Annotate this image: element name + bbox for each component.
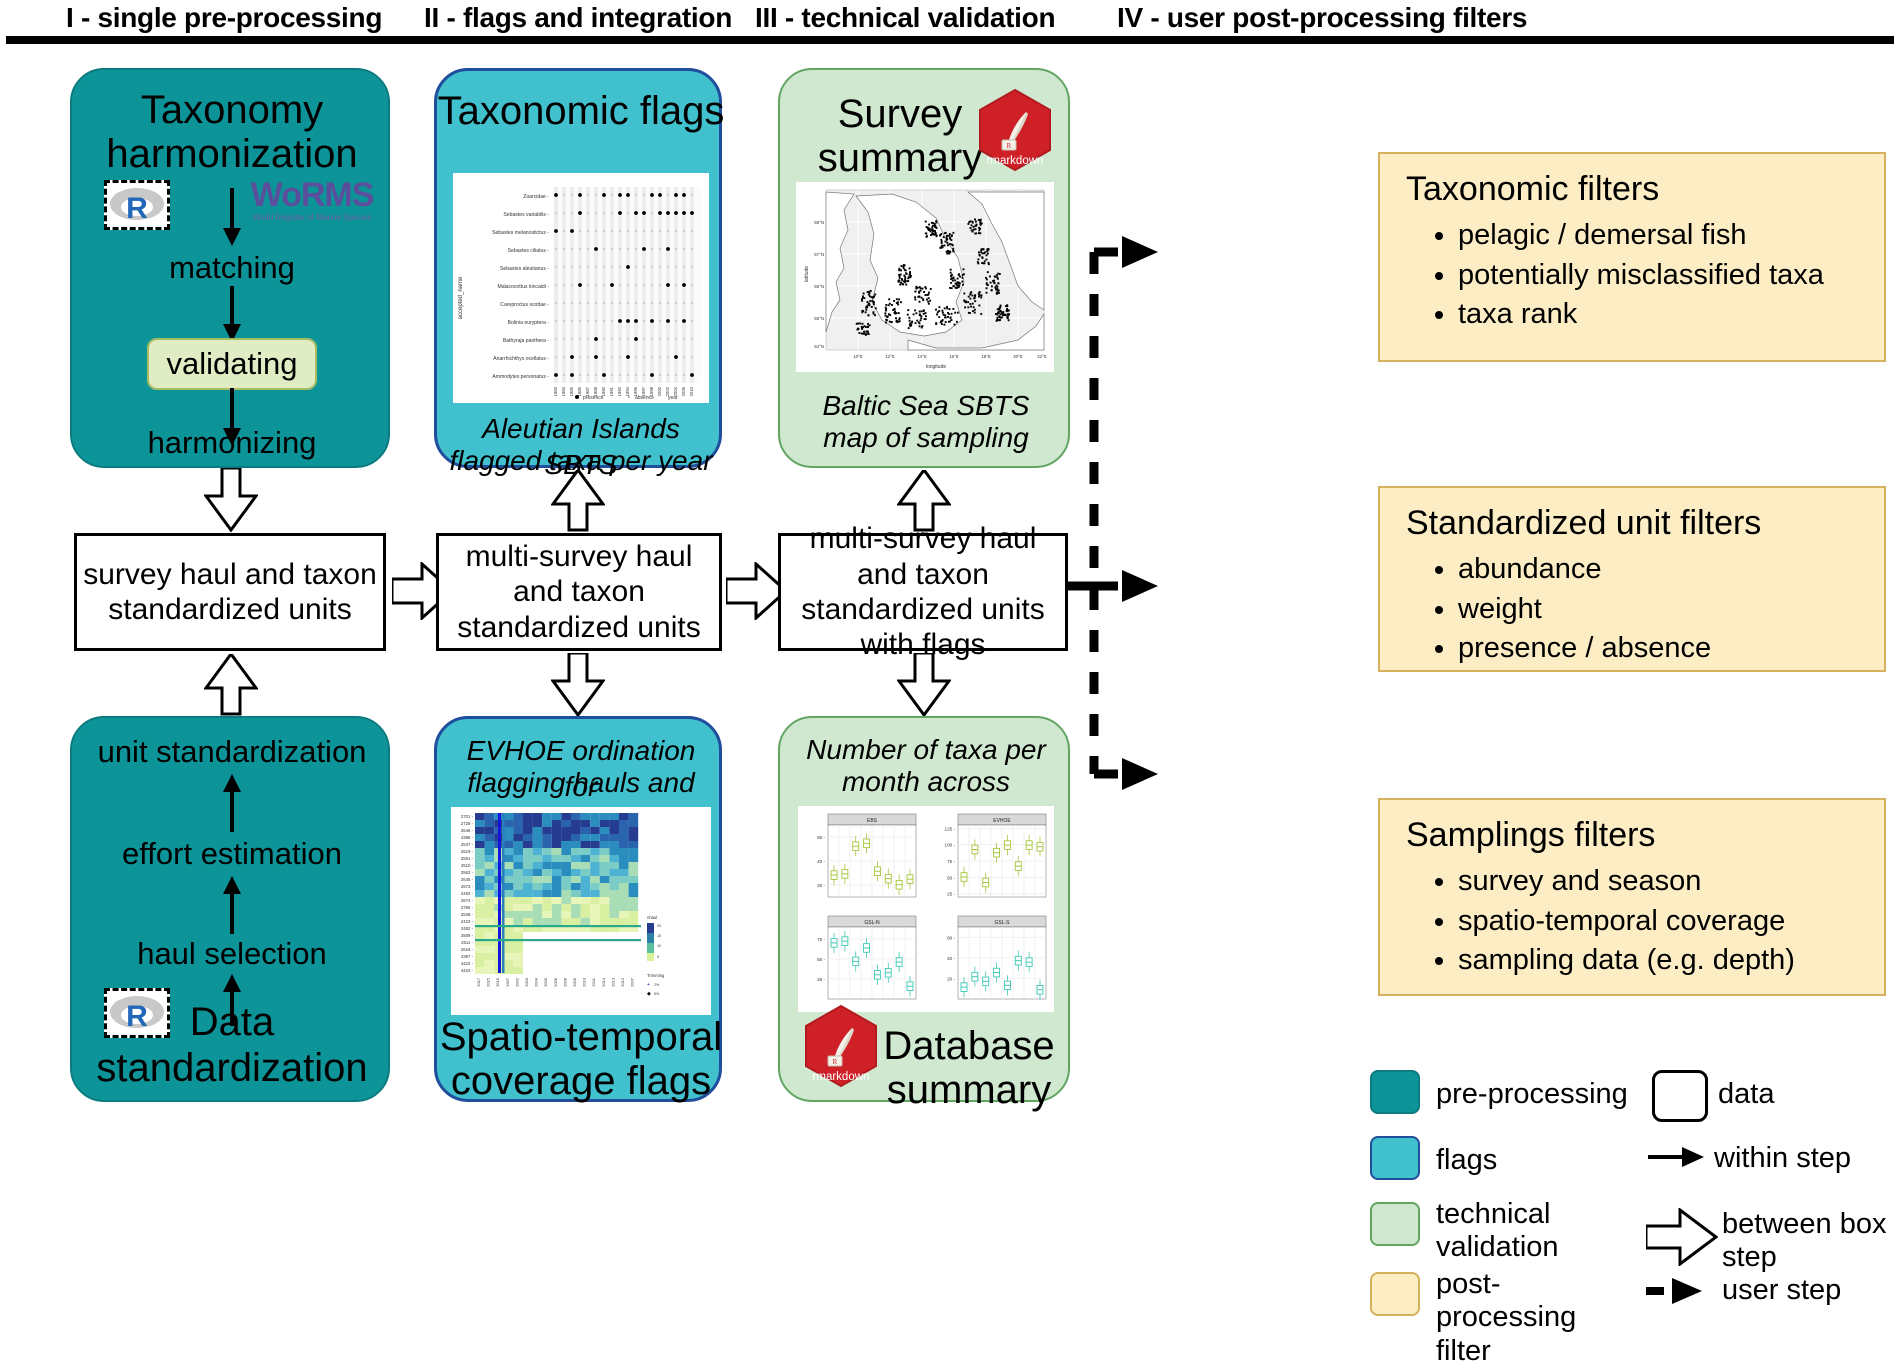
svg-text:EBS: EBS [867, 818, 878, 824]
svg-text:longitude: longitude [926, 364, 947, 370]
svg-text:2645 -: 2645 - [461, 877, 474, 882]
svg-text:75 -: 75 - [947, 859, 955, 864]
svg-text:20 -: 20 - [947, 976, 955, 981]
samplings-filters-title: Samplings filters [1406, 816, 1884, 855]
svg-text:2011: 2011 [591, 977, 596, 986]
svg-text:2000: 2000 [657, 386, 662, 396]
baltic-caption-line2: map of sampling [790, 420, 1062, 456]
spatio-temporal-title-line1: Spatio-temporal [437, 1015, 725, 1059]
rmarkdown-hex-logo-icon-2: R rmarkdown [802, 1004, 880, 1088]
step-harmonizing-label: harmonizing [72, 425, 392, 461]
svg-text:2619 -: 2619 - [461, 849, 474, 854]
svg-text:2006: 2006 [553, 977, 558, 987]
svg-text:2483 -: 2483 - [461, 891, 474, 896]
header-divider-rule [6, 36, 1894, 44]
svg-text:4396 -: 4396 - [461, 835, 474, 840]
svg-text:2012: 2012 [620, 977, 625, 987]
svg-text:accepted_name: accepted_name [458, 276, 464, 319]
svg-text:2%: 2% [654, 983, 660, 987]
svg-text:2003: 2003 [524, 977, 529, 987]
legend-swatch-pre-processing [1370, 1070, 1420, 1114]
legend-symbol-between-box-arrow [1646, 1208, 1718, 1266]
standardized-unit-filters-list: abundance weight presence / absence [1380, 551, 1884, 668]
svg-text:1997: 1997 [505, 977, 510, 987]
legend-label-within-step: within step [1714, 1142, 1851, 1175]
legend-label-data: data [1718, 1078, 1774, 1111]
svg-text:18°E: 18°E [981, 354, 991, 359]
svg-text:25 -: 25 - [817, 977, 825, 982]
svg-text:10: 10 [657, 944, 661, 948]
svg-text:50 -: 50 - [947, 875, 955, 880]
taxa-per-month-caption-line1: Number of taxa per [790, 732, 1062, 768]
legend-swatch-flags [1370, 1136, 1420, 1180]
legend-label-flags: flags [1436, 1144, 1497, 1177]
svg-text:GSL-S: GSL-S [994, 920, 1010, 926]
filter-item: pelagic / demersal fish [1458, 217, 1884, 255]
svg-text:10°E: 10°E [853, 354, 863, 359]
spatio-temporal-coverage-flags-box: EVHOE ordination for flagging hauls and … [434, 716, 722, 1102]
svg-text:2510 -: 2510 - [461, 863, 474, 868]
svg-text:58°N: 58°N [814, 220, 824, 225]
filter-item: spatio-temporal coverage [1458, 903, 1884, 941]
svg-text:2008: 2008 [562, 977, 567, 987]
svg-text:◆: ◆ [647, 991, 651, 997]
svg-text:55°N: 55°N [814, 316, 824, 321]
svg-text:Zoarcidae -: Zoarcidae - [523, 194, 549, 200]
svg-text:Sebastes aleutianus -: Sebastes aleutianus - [500, 266, 549, 272]
svg-text:125 -: 125 - [945, 826, 956, 831]
svg-text:1986: 1986 [577, 386, 582, 396]
taxonomic-filters-title: Taxonomic filters [1406, 170, 1884, 209]
legend-label-between-box-step: between box step [1722, 1208, 1892, 1275]
legend-symbol-user-step-arrow [1646, 1274, 1708, 1308]
legend-label-technical-validation: technical validation [1436, 1198, 1626, 1265]
between-box-arrow-c3-down [897, 653, 951, 717]
svg-text:2674 -: 2674 - [461, 898, 474, 903]
baltic-sea-sampling-map-thumbnail: 58°N 57°N 56°N 55°N 54°N 10°E 12°E 14°E … [796, 182, 1054, 372]
svg-text:2537 -: 2537 - [461, 842, 474, 847]
taxonomy-harmonization-title-line2: harmonization [72, 132, 392, 176]
legend-swatch-technical-validation [1370, 1202, 1420, 1246]
svg-text:EVHOE: EVHOE [993, 818, 1011, 824]
filter-item: weight [1458, 591, 1884, 629]
svg-text:1983: 1983 [553, 386, 558, 396]
between-box-arrow-c1-up [204, 654, 258, 716]
r-logo-icon: R [104, 180, 170, 230]
svg-text:Bolinia euryptera -: Bolinia euryptera - [508, 320, 550, 326]
legend-label-post-processing-filter: post-processing filter [1436, 1268, 1636, 1368]
svg-text:rmarkdown: rmarkdown [813, 1071, 870, 1083]
svg-text:latitude: latitude [804, 266, 810, 282]
filter-item: abundance [1458, 551, 1884, 589]
legend-symbol-within-step-arrow [1648, 1140, 1706, 1174]
data-box-col2-label: multi-survey haul and taxon standardized… [439, 539, 719, 645]
legend: pre-processing flags technical validatio… [1370, 1058, 1900, 1338]
svg-text:2618 -: 2618 - [461, 947, 474, 952]
step-effort-estimation-label: effort estimation [72, 836, 392, 872]
standardized-unit-filters-box: Standardized unit filters abundance weig… [1378, 486, 1886, 672]
within-step-arrow-2 [217, 286, 247, 344]
svg-text:Sebastes variabilis -: Sebastes variabilis - [503, 212, 549, 218]
taxonomy-harmonization-title-line1: Taxonomy [72, 88, 392, 132]
between-box-arrow-c2-down [551, 653, 605, 717]
svg-text:R: R [1007, 142, 1012, 150]
samplings-filters-list: survey and season spatio-temporal covera… [1380, 863, 1884, 980]
svg-text:2701 -: 2701 - [461, 814, 474, 819]
data-standardization-title-line1: Data [72, 1000, 392, 1044]
svg-text:2591 -: 2591 - [461, 856, 474, 861]
svg-text:2646 -: 2646 - [461, 828, 474, 833]
svg-text:60 -: 60 - [817, 835, 825, 840]
svg-text:Ammodytes personatus -: Ammodytes personatus - [492, 374, 549, 380]
taxonomic-flags-box: Taxonomic flags accepted_name Zoarcidae … [434, 68, 722, 468]
svg-text:2509 -: 2509 - [461, 933, 474, 938]
filter-item: presence / absence [1458, 630, 1884, 668]
svg-text:year: year [668, 395, 678, 401]
header-col-2: II - flags and integration [424, 2, 732, 34]
survey-summary-box: Survey summary R rmarkdown [778, 68, 1070, 468]
legend-label-user-step: user step [1722, 1274, 1841, 1307]
data-box-col2: multi-survey haul and taxon standardized… [436, 533, 722, 651]
data-box-col3-label: multi-survey haul and taxon standardized… [781, 521, 1065, 663]
between-box-arrow-c1-down [204, 468, 258, 532]
header-col-1: I - single pre-processing [66, 2, 382, 34]
svg-text:Careproctus scottae -: Careproctus scottae - [500, 302, 549, 308]
svg-text:2482 -: 2482 - [461, 926, 474, 931]
data-box-col1: survey haul and taxon standardized units [74, 533, 386, 651]
svg-text:2014: 2014 [601, 977, 606, 987]
within-step-arrow-4 [217, 774, 247, 832]
taxonomy-harmonization-box: Taxonomy harmonization R WoRMS World Reg… [70, 68, 390, 468]
between-box-arrow-c2-up [551, 470, 605, 532]
step-validating-wrapper: validating [72, 338, 392, 390]
within-step-arrow-1 [217, 188, 247, 248]
header-col-3: III - technical validation [755, 2, 1055, 34]
svg-text:2002: 2002 [514, 977, 519, 987]
rmarkdown-hex-logo-icon: R rmarkdown [976, 88, 1054, 172]
svg-text:Trimming: Trimming [647, 973, 665, 978]
svg-text:2010: 2010 [582, 977, 587, 987]
data-standardization-title-line2: standardization [72, 1046, 392, 1090]
spatio-temporal-title-line2: coverage flags [437, 1059, 725, 1103]
svg-text:2007: 2007 [630, 977, 635, 987]
data-standardization-box: unit standardization effort estimation h… [70, 716, 390, 1102]
svg-text:R: R [833, 1058, 838, 1066]
filter-item: survey and season [1458, 863, 1884, 901]
svg-text:20°E: 20°E [1013, 354, 1023, 359]
svg-text:2004: 2004 [534, 977, 539, 987]
svg-text:2538 -: 2538 - [461, 912, 474, 917]
worms-logo-wordmark: WoRMS [237, 178, 387, 212]
svg-text:2755 -: 2755 - [461, 905, 474, 910]
svg-text:presence: presence [583, 395, 604, 401]
svg-text:2015: 2015 [486, 977, 491, 987]
svg-text:2016: 2016 [495, 977, 500, 987]
svg-text:20 -: 20 - [817, 883, 825, 888]
baltic-caption-line1: Baltic Sea SBTS [790, 388, 1062, 424]
svg-text:nhaul: nhaul [647, 915, 657, 920]
svg-text:2423 -: 2423 - [461, 919, 474, 924]
svg-text:100 -: 100 - [945, 843, 956, 848]
svg-text:2563 -: 2563 - [461, 870, 474, 875]
svg-text:5%: 5% [654, 992, 660, 996]
worms-logo-tagline: World Register of Marine Species [237, 213, 387, 222]
evhoe-ordination-heatmap-thumbnail: 2701 -2728 -2646 -4396 -2537 -2619 -2591… [451, 807, 711, 1015]
within-step-arrow-5 [217, 876, 247, 934]
column-header-row: I - single pre-processing II - flags and… [0, 0, 1900, 46]
svg-text:54°N: 54°N [814, 344, 824, 349]
svg-text:2005: 2005 [543, 977, 548, 987]
data-box-col1-label: survey haul and taxon standardized units [77, 557, 383, 628]
svg-text:25 -: 25 - [947, 892, 955, 897]
svg-text:16°E: 16°E [949, 354, 959, 359]
taxonomic-filters-box: Taxonomic filters pelagic / demersal fis… [1378, 152, 1886, 362]
svg-text:5: 5 [657, 955, 659, 959]
svg-text:60 -: 60 - [947, 935, 955, 940]
step-validating-label: validating [147, 338, 318, 390]
svg-text:R: R [126, 192, 148, 225]
svg-text:1994: 1994 [625, 386, 630, 396]
svg-text:4397 -: 4397 - [461, 954, 474, 959]
svg-text:GSL-N: GSL-N [864, 920, 880, 926]
svg-text:12°E: 12°E [885, 354, 895, 359]
svg-text:rmarkdown: rmarkdown [987, 155, 1044, 167]
svg-text:2017: 2017 [476, 977, 481, 987]
legend-swatch-post-processing-filter [1370, 1272, 1420, 1316]
svg-text:2010: 2010 [689, 386, 694, 396]
legend-label-pre-processing: pre-processing [1436, 1078, 1628, 1111]
step-haul-selection-label: haul selection [72, 936, 392, 972]
svg-text:+: + [647, 982, 650, 988]
standardized-unit-filters-title: Standardized unit filters [1406, 504, 1884, 543]
taxonomic-flags-title: Taxonomic flags [437, 89, 725, 133]
taxa-per-month-boxplots-thumbnail: EBS20 -40 -60 -EVHOE25 -50 -75 -100 -125… [798, 806, 1054, 1012]
svg-text:14°E: 14°E [917, 354, 927, 359]
legend-symbol-data-box [1652, 1070, 1708, 1122]
svg-text:15: 15 [657, 934, 661, 938]
svg-text:22°E: 22°E [1037, 354, 1047, 359]
svg-text:Sebastes ciliatus -: Sebastes ciliatus - [508, 248, 550, 254]
taxonomic-flags-dotplot-thumbnail: accepted_name Zoarcidae - Sebastes varia… [453, 173, 709, 403]
filter-item: potentially misclassified taxa [1458, 257, 1884, 295]
svg-text:1984: 1984 [561, 386, 566, 396]
svg-text:Malacocottus kincaidi -: Malacocottus kincaidi - [497, 284, 549, 290]
database-summary-title: Database summary [874, 1024, 1064, 1112]
svg-text:4423 -: 4423 - [461, 968, 474, 973]
data-box-col3: multi-survey haul and taxon standardized… [778, 533, 1068, 651]
svg-text:2006: 2006 [681, 386, 686, 396]
svg-text:1992: 1992 [617, 386, 622, 396]
svg-text:56°N: 56°N [814, 284, 824, 289]
taxonomic-filters-list: pelagic / demersal fish potentially misc… [1380, 217, 1884, 334]
svg-text:Sebastes melanostictus -: Sebastes melanostictus - [492, 230, 549, 236]
svg-text:57°N: 57°N [814, 252, 824, 257]
svg-text:20: 20 [657, 924, 661, 928]
svg-text:2511 -: 2511 - [461, 940, 473, 945]
step-unit-standardization-label: unit standardization [72, 734, 392, 770]
samplings-filters-box: Samplings filters survey and season spat… [1378, 798, 1886, 996]
svg-text:2013: 2013 [610, 977, 615, 987]
svg-text:1985: 1985 [569, 386, 574, 396]
svg-text:2009: 2009 [572, 977, 577, 987]
svg-text:4422 -: 4422 - [461, 961, 474, 966]
filter-item: sampling data (e.g. depth) [1458, 942, 1884, 980]
svg-text:50 -: 50 - [817, 957, 825, 962]
svg-text:40 -: 40 - [947, 956, 955, 961]
svg-text:absence: absence [635, 395, 654, 401]
svg-text:Bathyraja panthera -: Bathyraja panthera - [503, 338, 549, 344]
svg-text:Anarrhichthys ocellatus -: Anarrhichthys ocellatus - [493, 356, 549, 362]
step-matching-label: matching [72, 250, 392, 286]
user-step-dashed-connectors [1066, 180, 1396, 940]
svg-text:40 -: 40 - [817, 859, 825, 864]
filter-item: taxa rank [1458, 296, 1884, 334]
header-col-4: IV - user post-processing filters [1117, 2, 1527, 34]
svg-text:1991: 1991 [609, 386, 614, 396]
svg-text:2673 -: 2673 - [461, 884, 474, 889]
svg-text:75 -: 75 - [817, 937, 825, 942]
database-summary-box: Number of taxa per month across surveys … [778, 716, 1070, 1102]
worms-logo-icon: WoRMS World Register of Marine Species [237, 178, 387, 224]
svg-text:2728 -: 2728 - [461, 821, 474, 826]
